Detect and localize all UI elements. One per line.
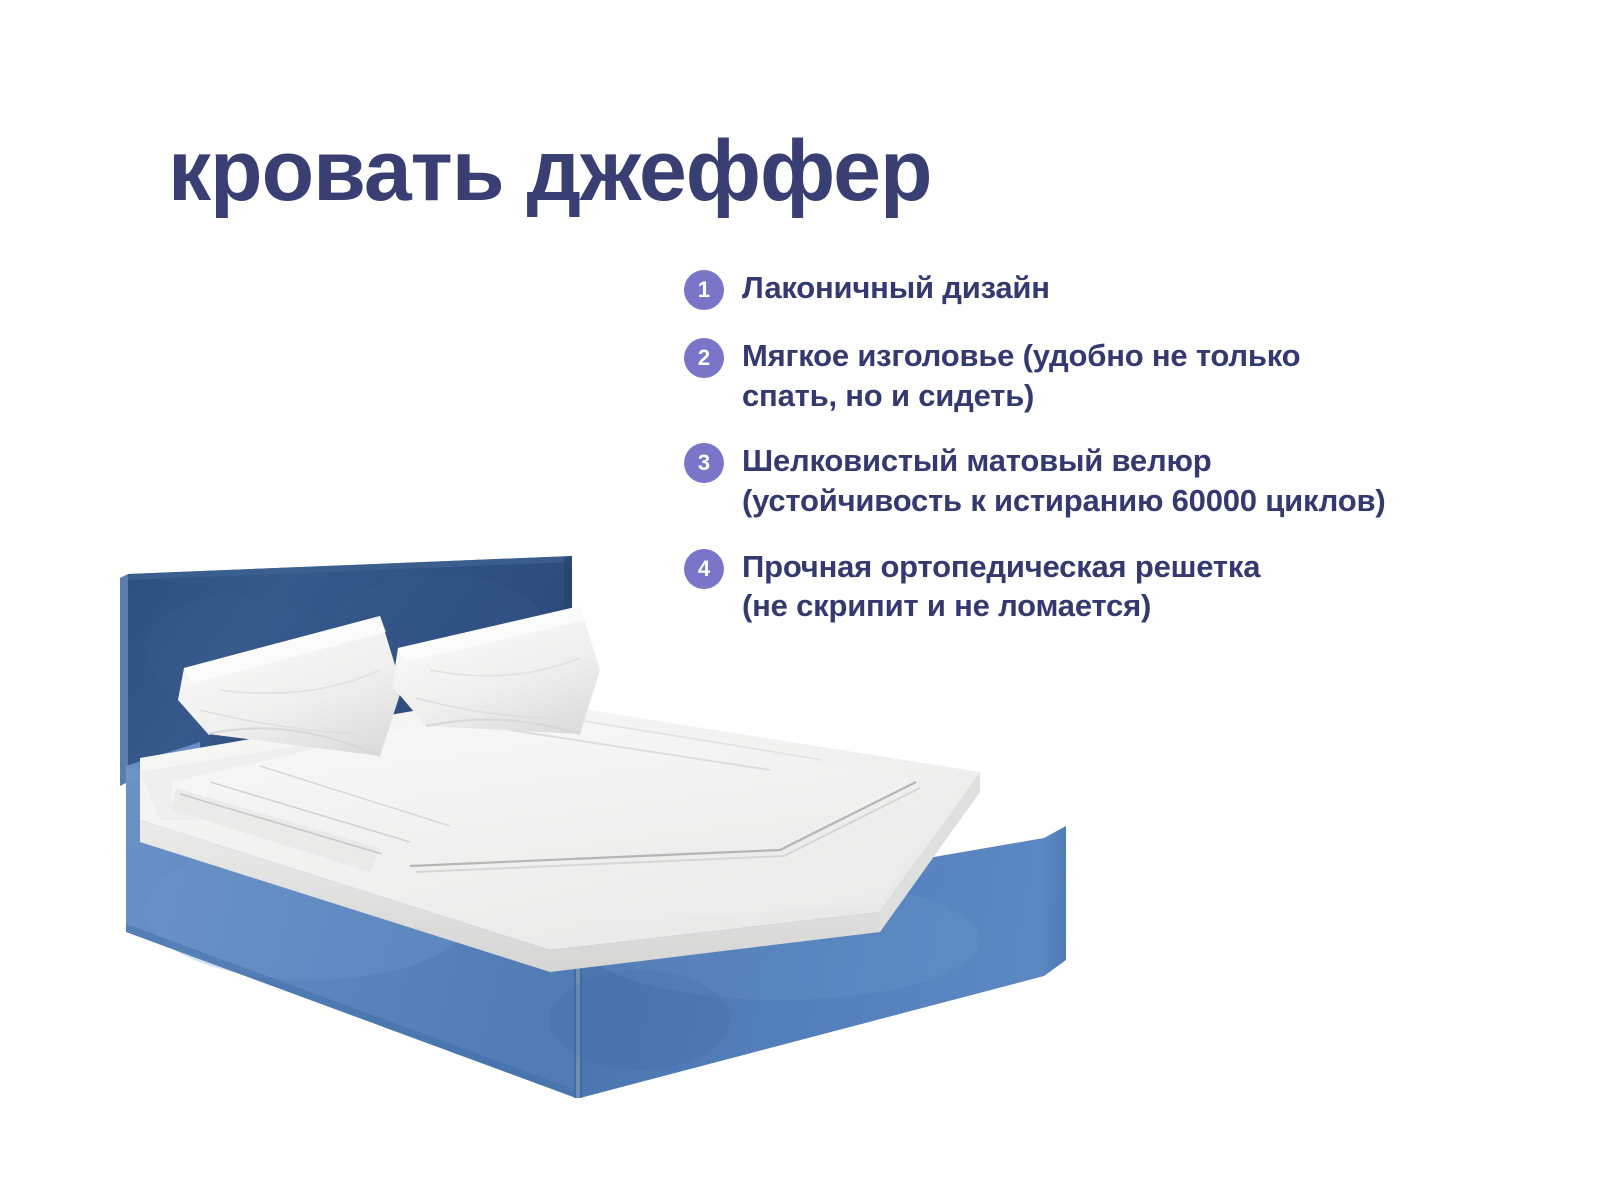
feature-item-2: 2 Мягкое изголовье (удобно не только спа… [684,336,1514,415]
feature-text-2: Мягкое изголовье (удобно не только спать… [742,336,1300,415]
feature-text-3: Шелковистый матовый велюр (устойчивость … [742,441,1385,520]
product-image-bed [80,520,1080,1120]
feature-badge-1: 1 [684,270,724,310]
feature-badge-2: 2 [684,338,724,378]
feature-text-1: Лаконичный дизайн [742,268,1050,308]
feature-badge-3: 3 [684,443,724,483]
feature-item-3: 3 Шелковистый матовый велюр (устойчивост… [684,441,1514,520]
poster-canvas: кровать джеффер 1 Лаконичный дизайн 2 Мя… [0,0,1600,1200]
feature-item-1: 1 Лаконичный дизайн [684,268,1514,310]
page-title: кровать джеффер [168,128,932,214]
